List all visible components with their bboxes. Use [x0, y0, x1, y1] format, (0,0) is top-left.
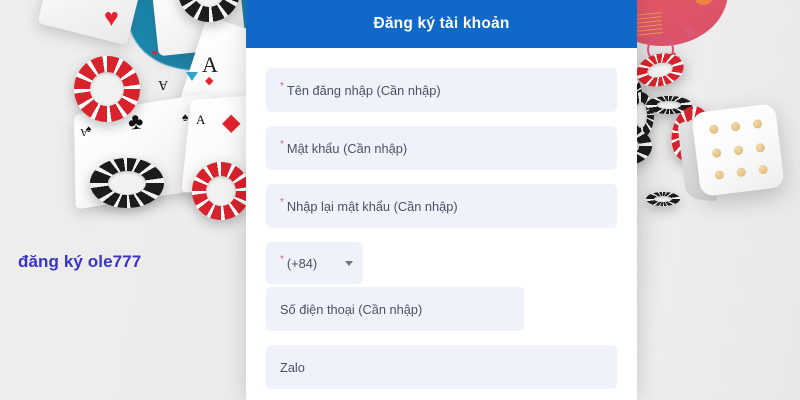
password-input[interactable]: * Mật khẩu (Cần nhập) [266, 126, 617, 170]
country-code-value: (+84) [287, 256, 317, 271]
spades-suit-icon: ♠ [182, 110, 188, 124]
required-marker: * [280, 140, 284, 150]
chevron-down-icon [345, 261, 353, 266]
black-poker-chip [646, 192, 680, 206]
ace-letter: A [196, 112, 205, 128]
zalo-input[interactable]: Zalo [266, 345, 617, 389]
registration-page: ✱ ✚ ♥ ♥ A A A ◆ ◆ ♣ ♠ ♠ A [0, 0, 800, 400]
hearts-suit-icon: ♥ [152, 48, 157, 58]
black-poker-chip [90, 158, 164, 208]
ace-letter: A [158, 76, 168, 92]
password-placeholder: Mật khẩu (Cần nhập) [287, 141, 407, 156]
required-marker: * [280, 82, 284, 92]
registration-modal: Đăng ký tài khoản * Tên đăng nhập (Cần n… [246, 0, 637, 400]
diamonds-suit-icon: ◆ [222, 108, 240, 137]
red-poker-chip [192, 162, 250, 220]
zalo-placeholder: Zalo [280, 360, 305, 375]
modal-header: Đăng ký tài khoản [246, 0, 637, 48]
red-poker-chip [74, 56, 140, 122]
modal-title: Đăng ký tài khoản [373, 15, 509, 33]
phone-number-input[interactable]: Số điện thoại (Cần nhập) [266, 287, 524, 331]
required-marker: * [280, 198, 284, 208]
spades-suit-icon: ♠ [86, 124, 91, 135]
phone-field-group: * (+84) Số điện thoại (Cần nhập) [266, 242, 617, 331]
sparkle-icon: ✱ [682, 26, 696, 40]
diamonds-suit-icon: ◆ [205, 74, 213, 87]
phone-number-placeholder: Số điện thoại (Cần nhập) [280, 302, 422, 317]
country-code-select[interactable]: * (+84) [266, 242, 363, 284]
required-marker: * [280, 255, 284, 265]
modal-body: * Tên đăng nhập (Cần nhập) * Mật khẩu (C… [246, 48, 637, 389]
confirm-password-input[interactable]: * Nhập lại mật khẩu (Cần nhập) [266, 184, 617, 228]
white-dice [691, 103, 785, 197]
triangle-decoration [186, 72, 198, 81]
username-input[interactable]: * Tên đăng nhập (Cần nhập) [266, 68, 617, 112]
confirm-password-placeholder: Nhập lại mật khẩu (Cần nhập) [287, 199, 458, 214]
hearts-suit-icon: ♥ [104, 8, 124, 28]
page-title: đăng ký ole777 [18, 252, 141, 272]
username-placeholder: Tên đăng nhập (Cần nhập) [287, 83, 441, 98]
